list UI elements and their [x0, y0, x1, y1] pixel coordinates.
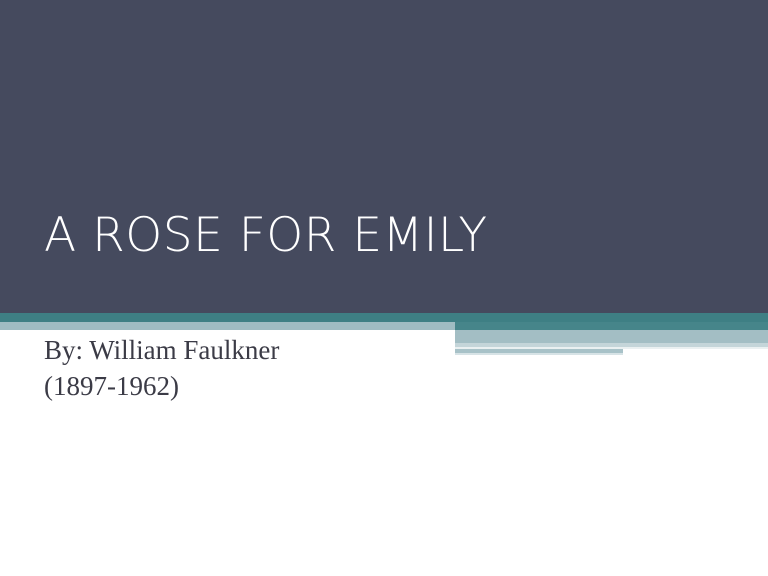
title-slide: A ROSE FOR EMILY By: William Faulkner (1…	[0, 0, 768, 576]
slide-subtitle-author: By: William Faulkner	[44, 332, 444, 368]
slide-subtitle: By: William Faulkner (1897-1962)	[44, 332, 444, 404]
slide-dark-background-panel	[0, 0, 768, 313]
decorative-band-step-light	[455, 330, 768, 343]
decorative-rule-lower	[455, 353, 623, 355]
slide-title: A ROSE FOR EMILY	[44, 206, 724, 266]
decorative-band-step-teal	[455, 322, 768, 330]
slide-subtitle-dates: (1897-1962)	[44, 368, 444, 404]
decorative-band-teal	[0, 313, 768, 322]
